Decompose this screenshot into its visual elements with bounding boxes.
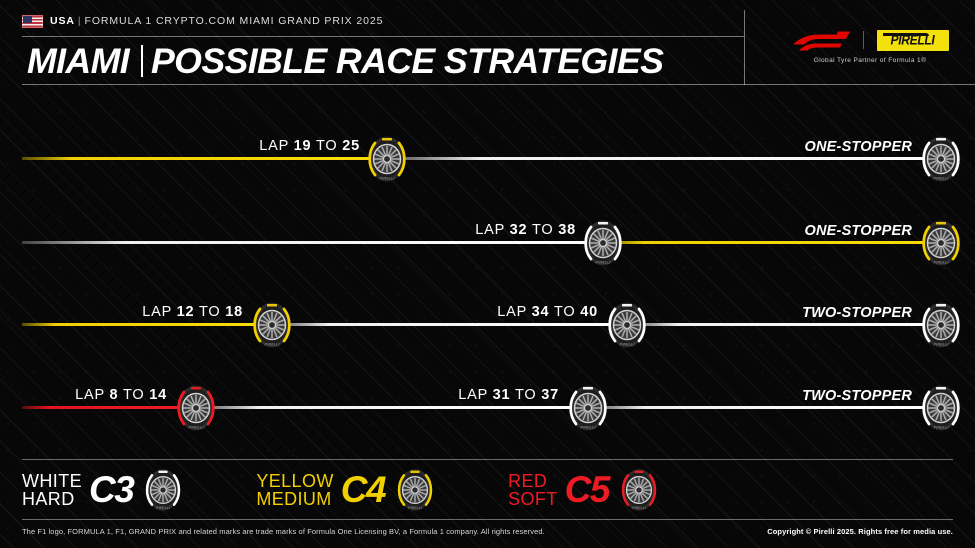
- svg-text:PIRELLI: PIRELLI: [620, 342, 636, 347]
- page-title: MIAMI POSSIBLE RACE STRATEGIES: [28, 40, 658, 82]
- lap-mid: TO: [549, 304, 580, 320]
- title-subject: POSSIBLE RACE STRATEGIES: [151, 44, 663, 79]
- legend-words: YELLOWMEDIUM: [256, 472, 333, 508]
- pirelli-logo: PIRELLI: [877, 30, 949, 51]
- legend-words: REDSOFT: [508, 472, 558, 508]
- lap-mid: TO: [527, 222, 558, 238]
- stint-bar-white: [22, 241, 596, 244]
- stint-bar-yellow: [22, 323, 265, 326]
- legend-words: WHITEHARD: [22, 472, 82, 508]
- lap-from: 31: [493, 387, 511, 403]
- kicker-text: USA|FORMULA 1 CRYPTO.COM MIAMI GRAND PRI…: [50, 15, 383, 27]
- tyre-icon-hard: PIRELLI: [563, 383, 613, 433]
- legend-compound-code: C3: [89, 473, 133, 507]
- stint-bar-white: [620, 323, 940, 326]
- legend-rule-bottom: [22, 519, 953, 520]
- svg-text:PIRELLI: PIRELLI: [596, 260, 612, 265]
- legend-colour-name: RED: [508, 472, 558, 490]
- svg-text:PIRELLI: PIRELLI: [934, 425, 950, 430]
- lap-prefix: LAP: [259, 138, 293, 154]
- lap-mid: TO: [510, 387, 541, 403]
- strategy-row: LAP 32 TO 38ONE-STOPPERPIRELLIPIRELLI: [0, 186, 975, 266]
- svg-text:PIRELLI: PIRELLI: [380, 176, 396, 181]
- tyre-icon-soft: PIRELLI: [616, 467, 662, 513]
- legend-compound-name: SOFT: [508, 490, 558, 508]
- legend-item-medium: YELLOWMEDIUMC4PIRELLI: [256, 466, 438, 514]
- brand-lockup: PIRELLI Global Tyre Partner of Formula 1…: [770, 28, 970, 64]
- svg-text:PIRELLI: PIRELLI: [934, 260, 950, 265]
- lap-from: 12: [177, 304, 195, 320]
- strategy-row: LAP 12 TO 18LAP 34 TO 40TWO-STOPPERPIREL…: [0, 268, 975, 348]
- legend-item-soft: REDSOFTC5PIRELLI: [508, 466, 662, 514]
- pitstop-lap-label: LAP 8 TO 14: [75, 387, 167, 403]
- legend-rule-top: [22, 459, 953, 460]
- event-kicker: USA|FORMULA 1 CRYPTO.COM MIAMI GRAND PRI…: [22, 13, 383, 29]
- strategy-row: LAP 8 TO 14LAP 31 TO 37TWO-STOPPERPIRELL…: [0, 351, 975, 431]
- footer-copyright-text: Copyright © Pirelli 2025. Rights free fo…: [767, 527, 953, 536]
- lap-prefix: LAP: [497, 304, 531, 320]
- legend-compound-name: MEDIUM: [256, 490, 333, 508]
- lap-from: 19: [294, 138, 312, 154]
- lap-to: 18: [225, 304, 243, 320]
- tyre-icon-medium: PIRELLI: [362, 134, 412, 184]
- legend-colour-name: WHITE: [22, 472, 82, 490]
- title-rule-top: [22, 36, 744, 37]
- tyre-icon-hard: PIRELLI: [140, 467, 186, 513]
- stint-bar-white: [189, 406, 581, 409]
- lap-prefix: LAP: [475, 222, 509, 238]
- strategy-label: TWO-STOPPER: [802, 305, 912, 321]
- stint-bar-yellow: [596, 241, 940, 244]
- usa-flag-icon: [22, 15, 43, 28]
- event-name: FORMULA 1 CRYPTO.COM MIAMI GRAND PRIX 20…: [85, 15, 384, 27]
- brand-separator: [863, 31, 864, 49]
- lap-prefix: LAP: [458, 387, 492, 403]
- legend-compound-code: C5: [565, 473, 609, 507]
- pitstop-lap-label: LAP 19 TO 25: [259, 138, 360, 154]
- lap-to: 37: [541, 387, 559, 403]
- kicker-separator: |: [78, 15, 82, 27]
- svg-text:PIRELLI: PIRELLI: [408, 506, 422, 510]
- title-location: MIAMI: [27, 44, 129, 79]
- stint-bar-red: [22, 406, 189, 409]
- pitstop-lap-label: LAP 12 TO 18: [142, 304, 243, 320]
- stint-bar-yellow: [22, 157, 380, 160]
- svg-text:PIRELLI: PIRELLI: [581, 425, 597, 430]
- tyre-icon-hard: PIRELLI: [578, 218, 628, 268]
- svg-text:PIRELLI: PIRELLI: [632, 506, 646, 510]
- pitstop-lap-label: LAP 34 TO 40: [497, 304, 598, 320]
- tyre-icon-hard: PIRELLI: [916, 383, 966, 433]
- legend-compound-code: C4: [341, 473, 385, 507]
- title-divider: [141, 45, 143, 77]
- footer-trademark-text: The F1 logo, FORMULA 1, F1, GRAND PRIX a…: [22, 527, 545, 536]
- compound-legend: WHITEHARDC3PIRELLIYELLOWMEDIUMC4PIRELLIR…: [22, 464, 662, 516]
- legend-item-hard: WHITEHARDC3PIRELLI: [22, 466, 186, 514]
- svg-text:PIRELLI: PIRELLI: [265, 342, 281, 347]
- brand-tagline: Global Tyre Partner of Formula 1®: [814, 57, 927, 64]
- stint-bar-white: [265, 323, 620, 326]
- svg-text:PIRELLI: PIRELLI: [934, 176, 950, 181]
- tyre-icon-medium: PIRELLI: [392, 467, 438, 513]
- tyre-icon-medium: PIRELLI: [916, 218, 966, 268]
- lap-mid: TO: [194, 304, 225, 320]
- tyre-icon-hard: PIRELLI: [916, 134, 966, 184]
- legend-compound-name: HARD: [22, 490, 82, 508]
- stint-bar-white: [380, 157, 940, 160]
- lap-to: 14: [149, 387, 167, 403]
- strategy-label: ONE-STOPPER: [805, 223, 912, 239]
- lap-to: 40: [580, 304, 598, 320]
- lap-from: 34: [532, 304, 550, 320]
- lap-to: 25: [342, 138, 360, 154]
- tyre-icon-hard: PIRELLI: [602, 300, 652, 350]
- lap-prefix: LAP: [75, 387, 109, 403]
- strategy-row: LAP 19 TO 25ONE-STOPPERPIRELLIPIRELLI: [0, 102, 975, 182]
- lap-from: 32: [510, 222, 528, 238]
- tyre-icon-medium: PIRELLI: [247, 300, 297, 350]
- lap-mid: TO: [311, 138, 342, 154]
- tyre-icon-hard: PIRELLI: [916, 300, 966, 350]
- svg-text:PIRELLI: PIRELLI: [189, 425, 205, 430]
- stint-bar-white: [581, 406, 940, 409]
- strategy-label: TWO-STOPPER: [802, 388, 912, 404]
- header-vertical-rule: [744, 10, 745, 85]
- legend-colour-name: YELLOW: [256, 472, 333, 490]
- pirelli-wordmark: PIRELLI: [891, 32, 935, 48]
- title-rule-bottom: [22, 84, 975, 85]
- strategy-label: ONE-STOPPER: [805, 139, 912, 155]
- country-code: USA: [50, 15, 75, 27]
- tyre-icon-soft: PIRELLI: [171, 383, 221, 433]
- pitstop-lap-label: LAP 31 TO 37: [458, 387, 559, 403]
- svg-text:PIRELLI: PIRELLI: [156, 506, 170, 510]
- lap-mid: TO: [118, 387, 149, 403]
- pitstop-lap-label: LAP 32 TO 38: [475, 222, 576, 238]
- lap-prefix: LAP: [142, 304, 176, 320]
- f1-logo-icon: [792, 30, 850, 51]
- lap-to: 38: [558, 222, 576, 238]
- svg-text:PIRELLI: PIRELLI: [934, 342, 950, 347]
